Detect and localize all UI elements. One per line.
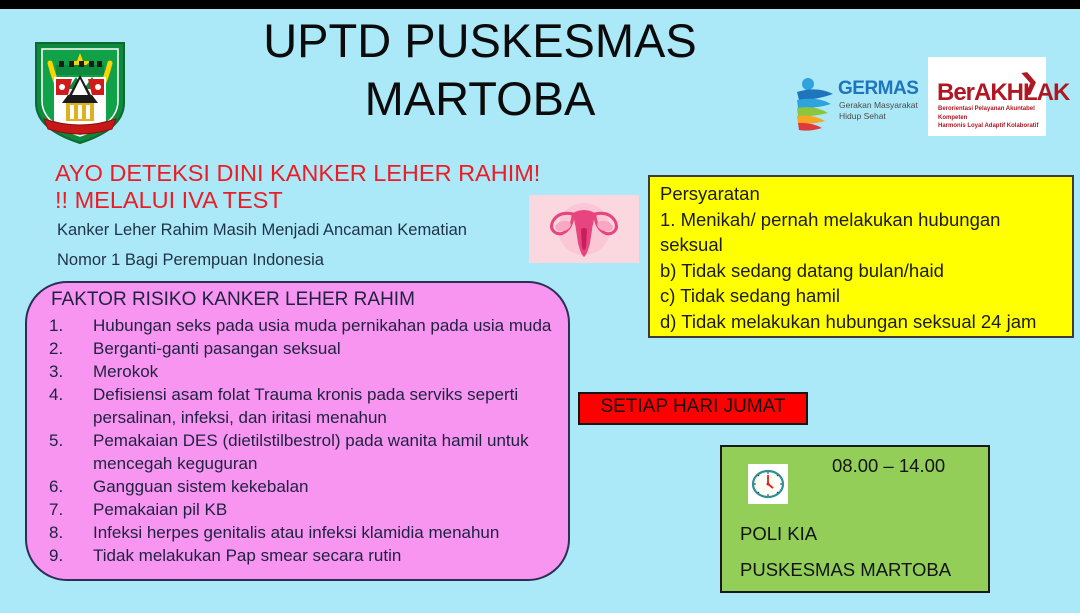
- list-item-text: Defisiensi asam folat Trauma kronis pada…: [93, 383, 559, 429]
- list-item: 3. Merokok: [49, 360, 559, 383]
- requirement-line: 1. Menikah/ pernah melakukan hubungan: [660, 207, 1074, 233]
- list-item-text: Berganti-ganti pasangan seksual: [93, 337, 559, 360]
- service-day-text: SETIAP HARI JUMAT: [580, 396, 806, 418]
- list-item-number: 9.: [49, 544, 93, 567]
- schedule-department: POLI KIA: [740, 523, 817, 545]
- germas-logo: GERMAS Gerakan Masyarakat Hidup Sehat: [795, 74, 930, 136]
- risk-factors-box: FAKTOR RISIKO KANKER LEHER RAHIM 1. Hubu…: [25, 281, 570, 581]
- list-item-text: Pemakaian pil KB: [93, 498, 559, 521]
- requirements-box: Persyaratan 1. Menikah/ pernah melakukan…: [648, 175, 1074, 338]
- headline-line-2: !! MELALUI IVA TEST: [55, 187, 575, 214]
- list-item-number: 1.: [49, 314, 93, 337]
- title-line-2: MARTOBA: [200, 70, 760, 128]
- requirements-list: Persyaratan 1. Menikah/ pernah melakukan…: [660, 181, 1074, 338]
- germas-wordmark: GERMAS: [838, 78, 918, 100]
- risk-factors-title: FAKTOR RISIKO KANKER LEHER RAHIM: [51, 289, 415, 311]
- berakhlak-tagline: Berorientasi Pelayanan Akuntabel Kompete…: [938, 105, 1040, 131]
- requirement-line: c) Tidak sedang hamil: [660, 283, 1074, 309]
- campaign-subline-2: Nomor 1 Bagi Perempuan Indonesia: [57, 251, 324, 270]
- berakhlak-tagline-line-1: Berorientasi Pelayanan Akuntabel Kompete…: [938, 105, 1040, 122]
- list-item: 9. Tidak melakukan Pap smear secara ruti…: [49, 544, 559, 567]
- list-item: 5. Pemakaian DES (dietilstilbestrol) pad…: [49, 429, 559, 475]
- list-item-number: 5.: [49, 429, 93, 452]
- campaign-headline: AYO DETEKSI DINI KANKER LEHER RAHIM! !! …: [55, 160, 575, 214]
- list-item-text: Hubungan seks pada usia muda pernikahan …: [93, 314, 559, 337]
- germas-tagline: Gerakan Masyarakat Hidup Sehat: [839, 100, 934, 122]
- list-item-text: Infeksi herpes genitalis atau infeksi kl…: [93, 521, 559, 544]
- list-item-text: Gangguan sistem kekebalan: [93, 475, 559, 498]
- page-title: UPTD PUSKESMAS MARTOBA: [200, 12, 760, 128]
- list-item: 6. Gangguan sistem kekebalan: [49, 475, 559, 498]
- list-item: 7. Pemakaian pil KB: [49, 498, 559, 521]
- schedule-box: 08.00 – 14.00 POLI KIA PUSKESMAS MARTOBA: [720, 445, 990, 593]
- list-item: 1. Hubungan seks pada usia muda pernikah…: [49, 314, 559, 337]
- list-item-text: Pemakaian DES (dietilstilbestrol) pada w…: [93, 429, 559, 475]
- berakhlak-logo: ❯ BerAKHLAK Berorientasi Pelayanan Akunt…: [928, 57, 1046, 136]
- poster-canvas: UPTD PUSKESMAS MARTOBA GERMAS Gerakan Ma…: [0, 0, 1080, 613]
- list-item-number: 8.: [49, 521, 93, 544]
- berakhlak-tagline-line-2: Harmonis Loyal Adaptif Kolaboratif: [938, 122, 1040, 131]
- campaign-subline-1: Kanker Leher Rahim Masih Menjadi Ancaman…: [57, 221, 467, 240]
- list-item-number: 6.: [49, 475, 93, 498]
- headline-line-1: AYO DETEKSI DINI KANKER LEHER RAHIM!: [55, 160, 575, 187]
- requirement-line: sebelum pemeriksaan: [660, 334, 1074, 338]
- list-item-number: 3.: [49, 360, 93, 383]
- list-item: 4. Defisiensi asam folat Trauma kronis p…: [49, 383, 559, 429]
- requirement-line: seksual: [660, 232, 1074, 258]
- germas-tagline-line-2: Hidup Sehat: [839, 111, 934, 122]
- schedule-facility: PUSKESMAS MARTOBA: [740, 559, 951, 581]
- uterus-ovaries-illustration-icon: [529, 195, 639, 263]
- analog-clock-icon: [748, 464, 788, 504]
- list-item-number: 4.: [49, 383, 93, 406]
- list-item-number: 7.: [49, 498, 93, 521]
- top-black-bar: [0, 0, 1080, 9]
- requirement-line: b) Tidak sedang datang bulan/haid: [660, 258, 1074, 284]
- berakhlak-wordmark: BerAKHLAK: [937, 79, 1069, 107]
- list-item-text: Merokok: [93, 360, 559, 383]
- service-day-banner: SETIAP HARI JUMAT: [578, 392, 808, 425]
- list-item-number: 2.: [49, 337, 93, 360]
- germas-tagline-line-1: Gerakan Masyarakat: [839, 100, 934, 111]
- list-item: 2. Berganti-ganti pasangan seksual: [49, 337, 559, 360]
- list-item: 8. Infeksi herpes genitalis atau infeksi…: [49, 521, 559, 544]
- pematang-siantar-coat-of-arms-icon: [28, 33, 132, 145]
- requirement-line: d) Tidak melakukan hubungan seksual 24 j…: [660, 309, 1074, 335]
- schedule-hours: 08.00 – 14.00: [832, 455, 945, 477]
- list-item-text: Tidak melakukan Pap smear secara rutin: [93, 544, 559, 567]
- risk-factors-list: 1. Hubungan seks pada usia muda pernikah…: [49, 314, 559, 567]
- requirements-title: Persyaratan: [660, 181, 1074, 207]
- title-line-1: UPTD PUSKESMAS: [200, 12, 760, 70]
